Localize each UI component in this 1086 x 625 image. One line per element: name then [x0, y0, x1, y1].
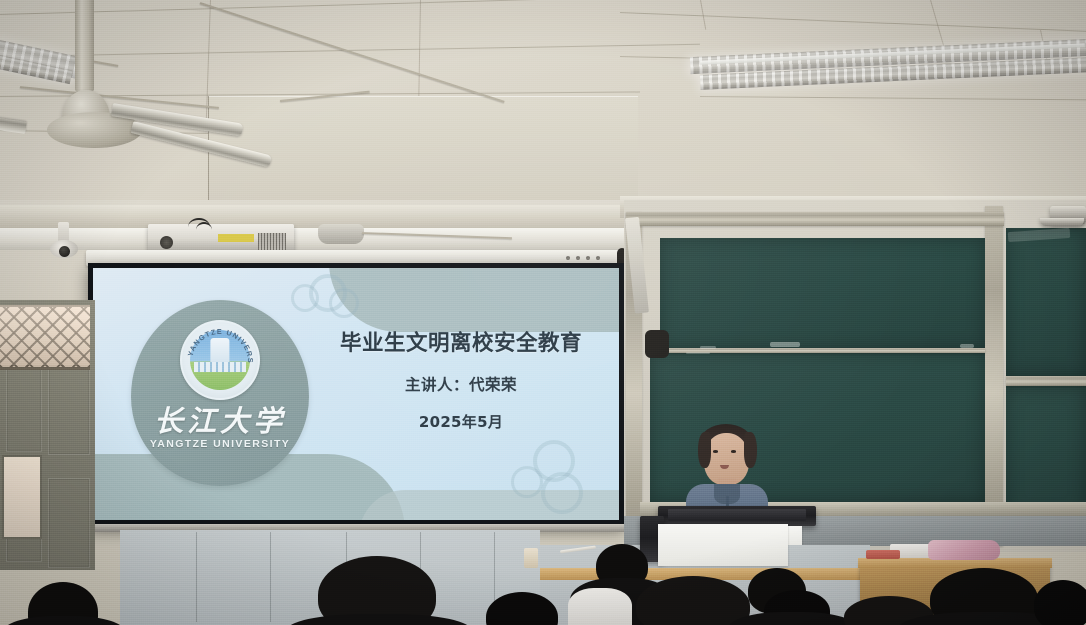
board-divider-right — [1006, 376, 1086, 386]
slide-surface: YANGTZE UNIVERSITY 长江大学 YANGTZE UNIVERSI… — [93, 268, 619, 520]
desk-paper — [658, 524, 788, 566]
paper-cup — [524, 548, 538, 568]
slide-decor-bottom-swoosh-2 — [359, 490, 619, 520]
slide-title: 毕业生文明离校安全教育 — [311, 326, 611, 357]
student-white-shirt — [568, 588, 632, 625]
ceiling-speaker — [318, 224, 364, 244]
presenter-eye-left — [713, 450, 718, 453]
desk-pink-cloth — [928, 540, 1000, 560]
board-light-joint — [645, 330, 669, 358]
chalk-mark-2 — [770, 342, 800, 347]
housing-button-1[interactable] — [566, 256, 570, 260]
projection-screen: YANGTZE UNIVERSITY 长江大学 YANGTZE UNIVERSI… — [88, 263, 624, 525]
stage-wall-seam-1 — [196, 532, 197, 622]
left-wall-light-panel — [2, 455, 42, 539]
board-frame-mid — [985, 206, 1003, 546]
chalkboard-panel-lower-right — [1006, 386, 1086, 516]
decorative-window-grille — [0, 305, 90, 370]
chalk-mark-3 — [960, 344, 974, 348]
student-head-10 — [1034, 580, 1086, 625]
logo-english-name: YANGTZE UNIVERSITY — [131, 438, 309, 450]
chalk-mark-1 — [700, 346, 716, 349]
logo-chinese-name: 长江大学 — [131, 398, 309, 440]
housing-button-3[interactable] — [586, 256, 590, 260]
chalkboard-panel-upper-left — [660, 238, 985, 350]
university-crest-icon: YANGTZE UNIVERSITY — [180, 320, 260, 400]
housing-button-4[interactable] — [596, 256, 600, 260]
student-shoulder-1 — [2, 616, 126, 625]
slide-date: 2025年5月 — [311, 411, 611, 432]
ceiling — [0, 0, 1086, 215]
board-frame-top — [626, 212, 1004, 226]
presenter-hair-right — [744, 432, 757, 468]
classroom-photo-scene: YANGTZE UNIVERSITY 长江大学 YANGTZE UNIVERSI… — [0, 0, 1086, 625]
stage-wall-seam-2 — [270, 532, 271, 622]
svg-text:YANGTZE UNIVERSITY: YANGTZE UNIVERSITY — [182, 322, 255, 364]
slide-decor-top-swoosh — [329, 268, 619, 332]
chalkboard-panel-upper-right — [1006, 228, 1086, 376]
housing-button-2[interactable] — [576, 256, 580, 260]
slide-presenter: 主讲人：代荣荣 — [311, 373, 611, 395]
lectern-monitor — [668, 509, 806, 521]
chalk-mark-4 — [686, 352, 710, 354]
desk-red-package — [866, 550, 900, 559]
university-logo: YANGTZE UNIVERSITY 长江大学 YANGTZE UNIVERSI… — [131, 300, 309, 486]
board-light-reflector — [1040, 218, 1084, 226]
presenter-hair-left — [698, 432, 711, 468]
crest-ring-text: YANGTZE UNIVERSITY — [182, 322, 258, 398]
presenter-eye-right — [731, 450, 736, 453]
